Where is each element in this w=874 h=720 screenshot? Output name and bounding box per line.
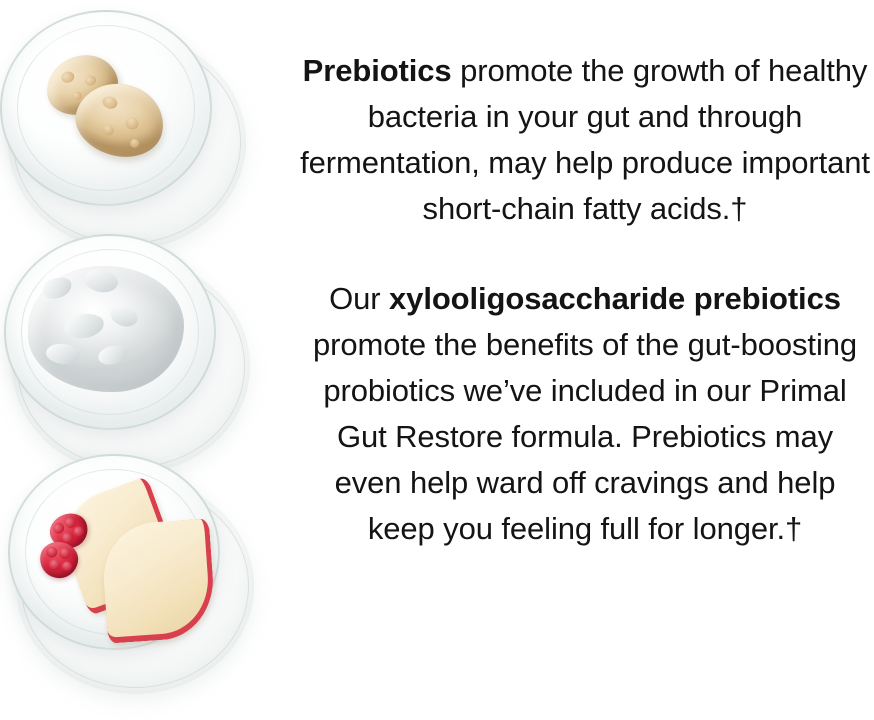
bowl-sunchokes-image xyxy=(0,8,254,256)
tuber-knob xyxy=(72,91,83,101)
marketing-infographic: Prebiotics promote the growth of healthy… xyxy=(0,0,874,720)
bowl-fruit-image xyxy=(2,452,262,700)
paragraph2-prefix: Our xyxy=(329,281,389,316)
glass-bowl xyxy=(0,10,212,206)
paragraph2-body: promote the benefits of the gut-boosting… xyxy=(313,327,857,546)
raspberry-drupe xyxy=(58,547,71,560)
tuber-knob xyxy=(60,70,76,84)
raspberry-drupe xyxy=(72,525,85,538)
tuber-knob xyxy=(124,116,140,131)
glass-bowl xyxy=(4,234,216,430)
paragraph2-bold-term: xylooligosaccharide prebiotics xyxy=(389,281,841,316)
tuber-knob xyxy=(129,138,140,149)
glass-bowl xyxy=(8,454,220,650)
copy-column: Prebiotics promote the growth of healthy… xyxy=(296,0,874,720)
bowl-powder-image xyxy=(0,232,258,480)
paragraph-prebiotics-benefits: Prebiotics promote the growth of healthy… xyxy=(296,48,874,232)
tuber-knob xyxy=(101,95,119,111)
tuber-knob xyxy=(84,74,97,87)
paragraph-xos-prebiotics: Our xylooligosaccharide prebiotics promo… xyxy=(296,276,874,552)
ingredient-image-column xyxy=(0,0,300,720)
tuber-knob xyxy=(102,124,115,137)
raspberry-drupe xyxy=(48,558,61,571)
raspberry-drupe xyxy=(45,546,58,559)
paragraph1-lead-bold: Prebiotics xyxy=(303,53,452,88)
raspberry-drupe xyxy=(61,561,73,573)
